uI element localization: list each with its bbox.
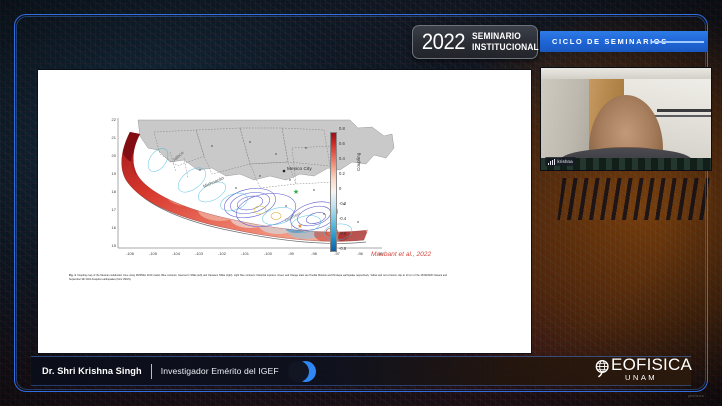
badge-text-lines: SEMINARIO INSTITUCIONAL bbox=[472, 32, 548, 52]
svg-text:17: 17 bbox=[112, 207, 117, 212]
svg-text:-99: -99 bbox=[288, 251, 295, 256]
crescent-moon-icon bbox=[295, 361, 316, 382]
webcam-video-panel[interactable]: krishna bbox=[540, 67, 712, 171]
figure-credit: Maubant et al., 2022 bbox=[371, 251, 431, 258]
mexico-city-marker bbox=[283, 170, 286, 173]
speaker-name: Dr. Shri Krishna Singh bbox=[42, 366, 142, 376]
lower-third-divider bbox=[151, 364, 152, 379]
globe-icon bbox=[593, 359, 613, 379]
speaker-role: Investigador Emérito del IGEF bbox=[161, 366, 279, 376]
colorbar-ticklabels: 0.8 0.6 0.4 0.2 0 -0.2 -0.4 -0.6 -0.8 bbox=[339, 126, 369, 258]
svg-text:18: 18 bbox=[112, 189, 117, 194]
webcam-window-blind bbox=[657, 109, 711, 112]
webcam-ceiling bbox=[541, 68, 711, 79]
svg-text:16: 16 bbox=[112, 225, 117, 230]
y-axis-ticklabels: 22 21 20 19 18 17 16 15 bbox=[112, 118, 117, 248]
corner-watermark: geofisica bbox=[688, 394, 704, 398]
figure-caption-text: Coupling map of the Mexican subduction z… bbox=[69, 274, 447, 281]
svg-text:-100: -100 bbox=[264, 251, 273, 256]
webcam-window-blind-2 bbox=[653, 115, 711, 117]
map-label-guerrero: Guerrero bbox=[284, 210, 302, 223]
svg-text:-105: -105 bbox=[149, 251, 158, 256]
svg-text:15: 15 bbox=[112, 243, 117, 248]
puebla-morelos-star-icon: ★ bbox=[293, 188, 299, 196]
logo-sub-text: UNAM bbox=[625, 374, 692, 382]
svg-text:20: 20 bbox=[112, 153, 117, 158]
badge-line-seminario: SEMINARIO bbox=[472, 32, 539, 42]
webcam-participant-name: krishna bbox=[557, 159, 573, 164]
ribbon-dash-accent bbox=[652, 41, 704, 43]
svg-text:-101: -101 bbox=[241, 251, 250, 256]
svg-text:-106: -106 bbox=[126, 251, 135, 256]
svg-text:22: 22 bbox=[112, 118, 117, 122]
geofisica-unam-logo: EOFISICA UNAM bbox=[593, 356, 692, 382]
figure-area: ★ ★ Jalisco Michoacán Guerrero bbox=[38, 70, 531, 266]
ciclo-de-seminarios-ribbon: CICLO DE SEMINARIOS bbox=[540, 31, 708, 52]
svg-text:-103: -103 bbox=[195, 251, 204, 256]
svg-text:19: 19 bbox=[112, 171, 117, 176]
badge-year-text: 2022 bbox=[422, 31, 465, 53]
signal-bars-icon bbox=[548, 159, 555, 165]
map-label-mexico-city: Mexico City bbox=[287, 166, 312, 172]
badge-line-institucional: INSTITUCIONAL bbox=[472, 43, 539, 53]
map-label-michoacan: Michoacán bbox=[202, 175, 225, 189]
lower-third-bar: Dr. Shri Krishna Singh Investigador Emér… bbox=[31, 356, 691, 386]
slide-content-area: ★ ★ Jalisco Michoacán Guerrero bbox=[37, 69, 532, 354]
logo-main-text: EOFISICA bbox=[611, 356, 692, 373]
figure-caption: Fig. 4. Coupling map of the Mexican subd… bbox=[69, 274, 447, 282]
presentation-stage: 2022 SEMINARIO INSTITUCIONAL CICLO DE SE… bbox=[0, 0, 722, 406]
colorbar-axis-label: Coupling bbox=[356, 153, 361, 171]
svg-text:-102: -102 bbox=[218, 251, 227, 256]
svg-text:-104: -104 bbox=[172, 251, 181, 256]
logo-text-block: EOFISICA UNAM bbox=[611, 356, 692, 382]
seminario-badge: 2022 SEMINARIO INSTITUCIONAL bbox=[412, 25, 538, 59]
ribbon-label: CICLO DE SEMINARIOS bbox=[540, 37, 668, 46]
svg-text:21: 21 bbox=[112, 135, 117, 140]
svg-text:-98: -98 bbox=[311, 251, 318, 256]
webcam-participant-tag: krishna bbox=[545, 157, 576, 166]
pinotepa-star-icon: ★ bbox=[297, 223, 302, 230]
colorbar-gradient bbox=[330, 132, 337, 252]
